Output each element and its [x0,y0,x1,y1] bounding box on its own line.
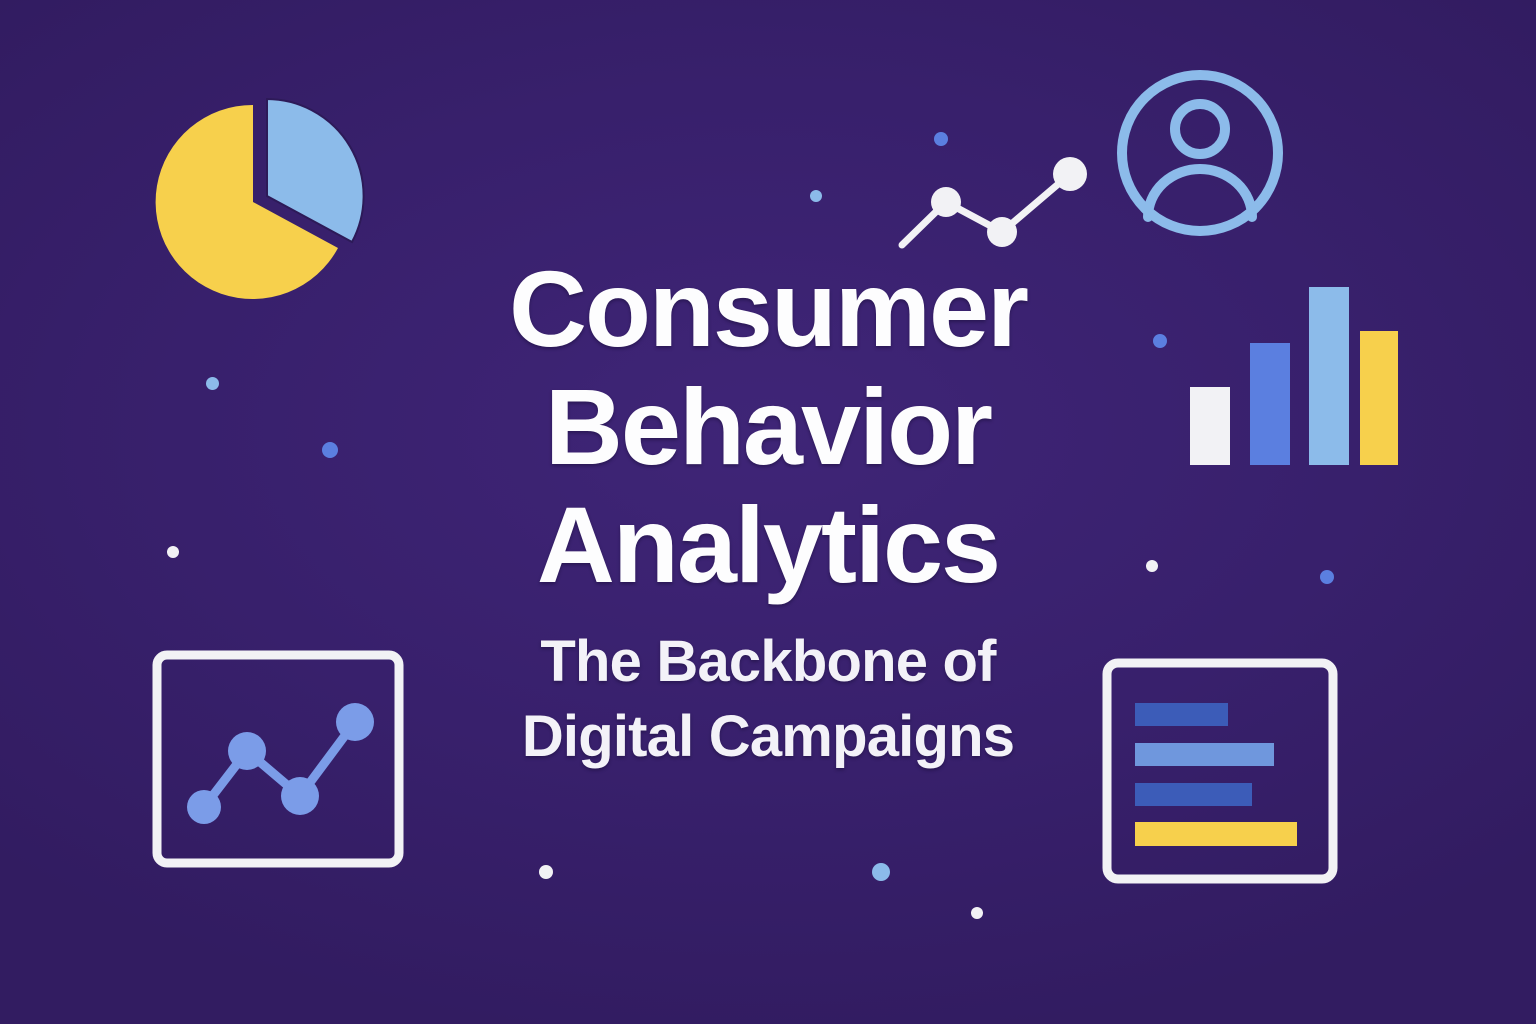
dot-left-upper [206,377,219,390]
dot-right-lower [1320,570,1334,584]
dot-bottom-left [539,865,553,879]
dot-top-center-right [934,132,948,146]
horizontal-bar-card-svg [1102,658,1338,884]
pie-chart-svg [150,95,365,310]
framed-line-point-3 [281,777,319,815]
bar-chart-icon [1186,285,1401,472]
framed-line-chart-svg [152,650,404,868]
line-chart-point-1 [931,187,961,217]
avatar-head [1175,104,1225,154]
dot-top-center-left [810,190,822,202]
bar-chart-bar-1 [1190,387,1230,465]
pie-chart-icon [150,95,365,315]
horizontal-bar-card-icon [1102,658,1338,889]
title-line-2: Behavior [509,368,1027,486]
framed-line-point-2 [228,732,266,770]
bar-chart-svg [1186,285,1401,467]
dot-bottom-center [872,863,890,881]
subtitle-line-1: The Backbone of [522,625,1014,699]
hbar-1 [1135,703,1228,726]
bar-chart-bar-4 [1360,331,1398,465]
bar-chart-bar-3 [1309,287,1349,465]
line-chart-svg [890,150,1090,270]
framed-line-point-4 [336,703,374,741]
line-chart-point-3 [1053,157,1087,191]
line-chart-polyline [902,174,1070,245]
page-title: Consumer Behavior Analytics [509,250,1027,603]
title-line-3: Analytics [509,486,1027,604]
hbar-2 [1135,743,1274,766]
dot-right-upper [1153,334,1167,348]
dot-right-mid [1146,560,1158,572]
dot-left-mid [322,442,338,458]
poster-canvas: Consumer Behavior Analytics The Backbone… [0,0,1536,1024]
hbar-3 [1135,783,1252,806]
user-avatar-icon [1112,65,1288,246]
line-chart-icon [890,150,1090,275]
subtitle-line-2: Digital Campaigns [522,700,1014,774]
framed-line-polyline [204,722,355,807]
avatar-shoulders [1148,169,1252,217]
dot-bottom-right [971,907,983,919]
user-avatar-svg [1112,65,1288,241]
bar-card-frame [1107,663,1333,879]
chart-frame [157,655,399,863]
framed-line-chart-icon [152,650,404,873]
line-chart-point-2 [987,217,1017,247]
hbar-4 [1135,822,1297,846]
bar-chart-bar-2 [1250,343,1290,465]
framed-line-point-1 [187,790,221,824]
page-subtitle: The Backbone of Digital Campaigns [522,625,1014,773]
dot-left-lower [167,546,179,558]
